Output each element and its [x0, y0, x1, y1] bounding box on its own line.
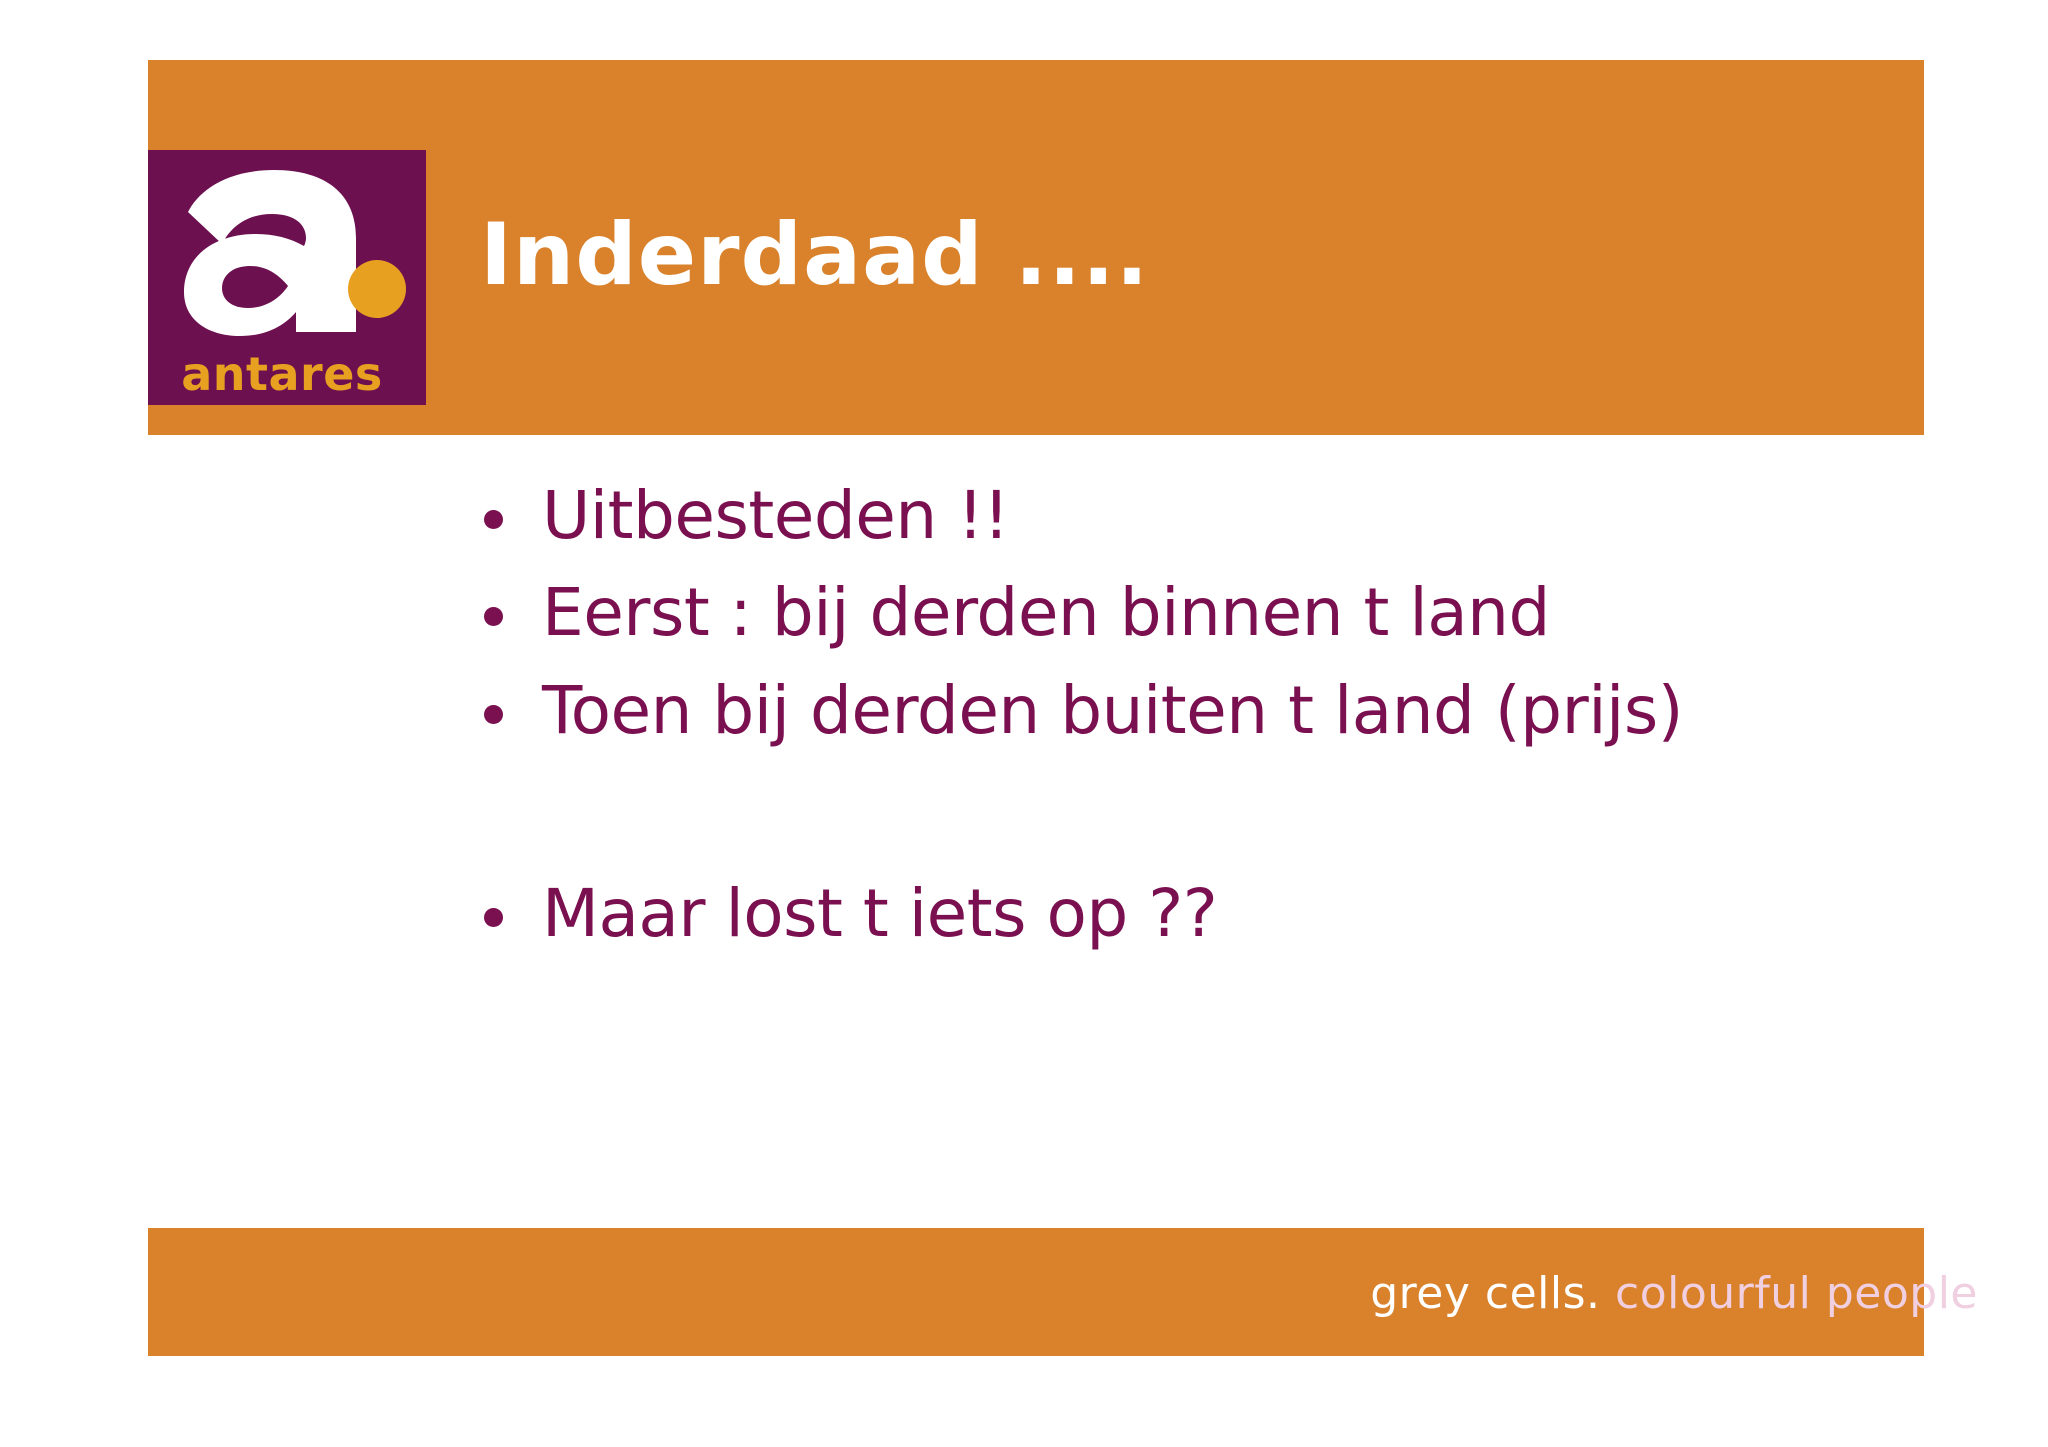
footer-tagline: grey cells. colourful people — [1370, 1268, 1978, 1319]
page-title: Inderdaad .... — [480, 212, 1149, 298]
slide-canvas: antares Inderdaad .... Uitbesteden !! Ee… — [0, 0, 2048, 1447]
list-item: Uitbesteden !! — [470, 480, 1800, 551]
list-item: Toen bij derden buiten t land (prijs) — [470, 675, 1800, 746]
bullet-dot-icon — [484, 908, 503, 927]
footer-tagline-secondary: colourful people — [1615, 1268, 1978, 1319]
logo-dot-icon — [348, 260, 406, 318]
list-item-label: Eerst : bij derden binnen t land — [542, 574, 1550, 651]
bullet-dot-icon — [484, 705, 503, 724]
bullet-dot-icon — [484, 510, 503, 529]
bullet-dot-icon — [484, 607, 503, 626]
list-item-label: Uitbesteden !! — [542, 477, 1009, 554]
list-item-label: Maar lost t iets op ?? — [542, 875, 1217, 952]
list-item-label: Toen bij derden buiten t land (prijs) — [542, 672, 1683, 749]
list-item: Maar lost t iets op ?? — [470, 878, 1800, 949]
logo-wordmark: antares — [148, 351, 416, 397]
antares-logo: antares — [148, 150, 426, 405]
list-item: Eerst : bij derden binnen t land — [470, 577, 1800, 648]
footer-tagline-primary: grey cells. — [1370, 1268, 1600, 1319]
content-body: Uitbesteden !! Eerst : bij derden binnen… — [470, 480, 1800, 975]
